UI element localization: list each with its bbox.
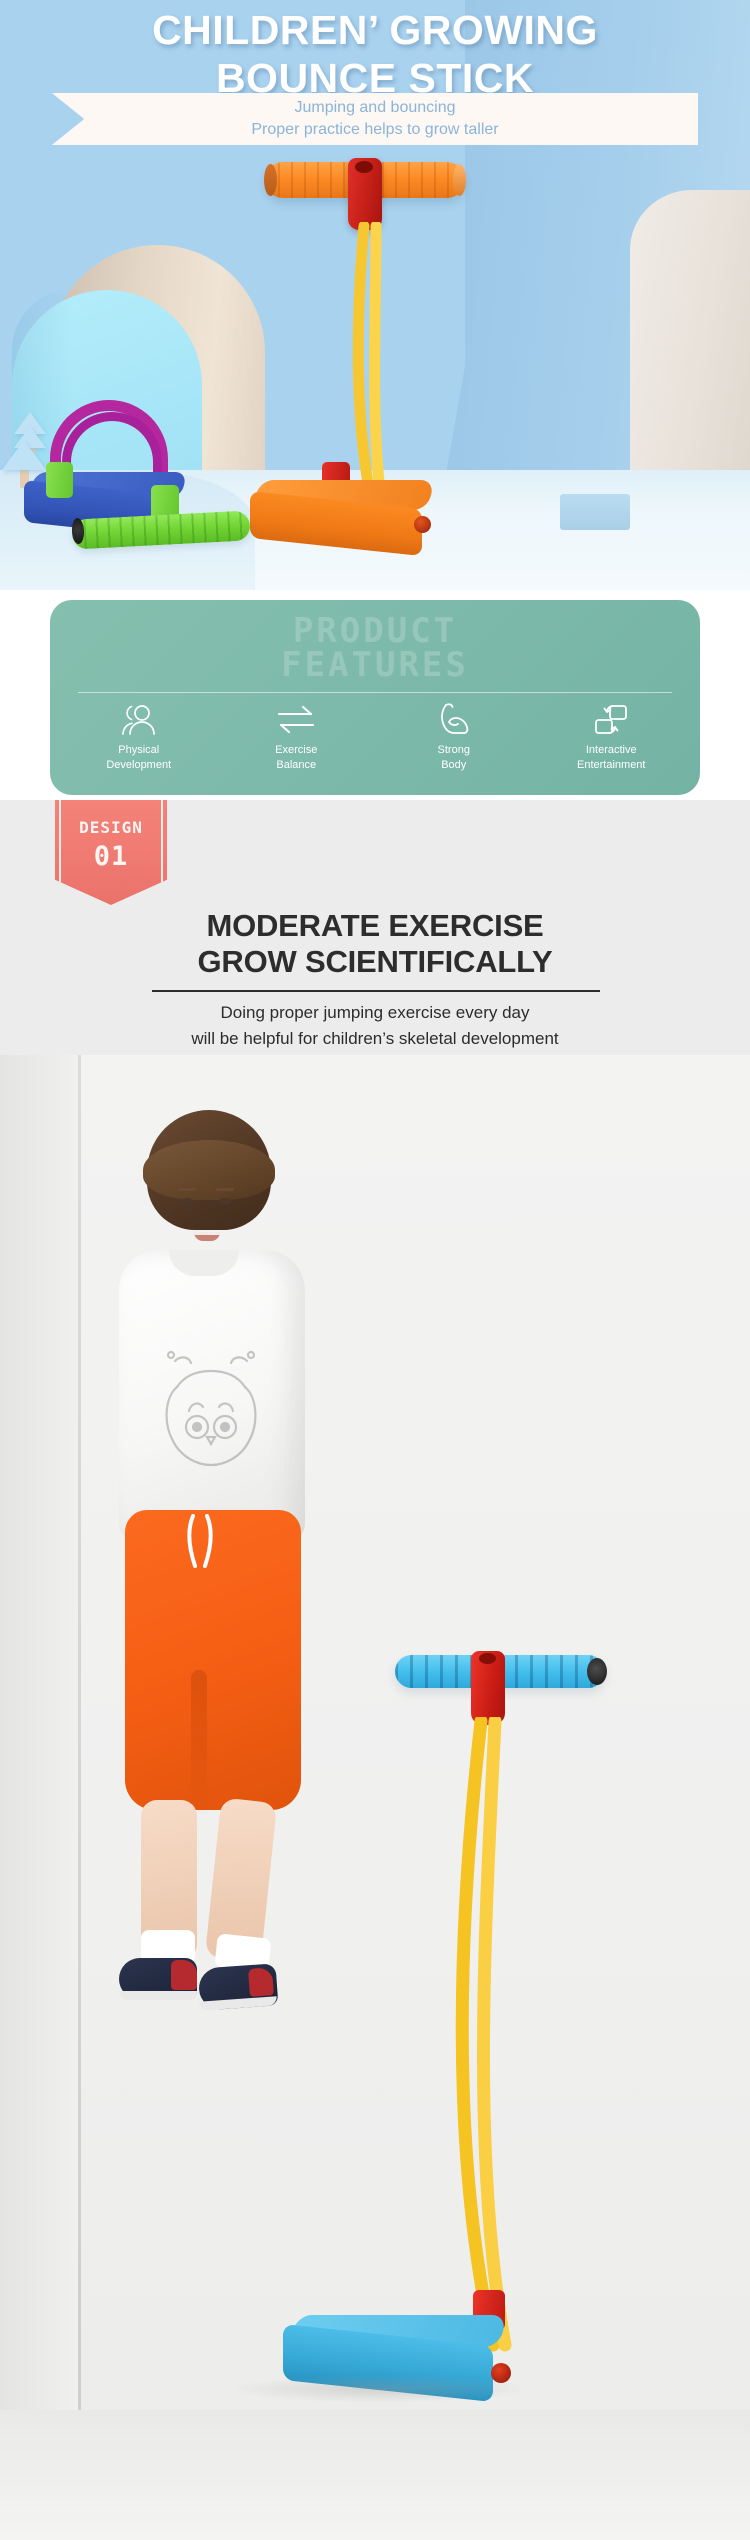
shoe-sole-left [119,1991,197,2000]
ribbon-line1: Jumping and bouncing [294,97,455,119]
design-section: DESIGN 01 MODERATE EXERCISE GROW SCIENTI… [0,800,750,1070]
pants-center-seam [191,1670,207,1815]
body-line2: will be helpful for children’s skeletal … [0,1026,750,1052]
ribbon-line2: Proper practice helps to grow taller [251,119,498,141]
headline-underline [152,990,600,992]
lifestyle-photo-section [0,1055,750,2540]
features-watermark-line1: PRODUCT [50,614,700,648]
hero-section: CHILDREN’ GROWING BOUNCE STICK Jumping a… [0,0,750,590]
child-hair-fringe [143,1140,275,1200]
handle-end-cap-right [453,164,466,196]
body-line1: Doing proper jumping exercise every day [0,1000,750,1026]
child-model [95,1110,365,2480]
product-ground-shadow [230,2375,530,2403]
design-badge-text: DESIGN 01 [55,800,167,872]
orange-foam-base [250,480,435,555]
child-eyebrow-left [178,1188,196,1191]
product-blue-bounce-stick-photo [395,1655,685,2455]
yellow-bungee-cords [350,222,480,522]
product-features-section: PRODUCT FEATURES Physical Development [0,590,750,800]
features-divider [78,692,672,693]
design-badge-number: 01 [55,841,167,872]
flexed-bicep-icon [375,700,533,738]
feature-item-physical-development: Physical Development [60,700,218,773]
page-title: CHILDREN’ GROWING BOUNCE STICK [0,6,750,103]
hero-step-block [560,494,630,530]
swap-boxes-refresh-icon [533,700,691,738]
red-collar-top [348,158,382,230]
design-badge-label: DESIGN [55,818,167,837]
child-mouth [194,1232,220,1241]
product-orange-bounce-stick [250,150,480,570]
features-watermark-line2: FEATURES [50,648,700,682]
hero-subtitle-ribbon: Jumping and bouncing Proper practice hel… [52,93,698,145]
pants-drawstring [183,1514,219,1572]
features-watermark: PRODUCT FEATURES [50,614,700,682]
photo-wall-left [0,1055,78,2540]
green-collar-base [46,462,73,498]
features-panel: PRODUCT FEATURES Physical Development [50,600,700,795]
handle-end-cap-left [264,164,277,196]
child-eyebrow-right [216,1188,234,1191]
child-eye-left [181,1198,193,1204]
feature-item-strong-body: Strong Body [375,700,533,773]
yellow-bungee-cords [415,1717,615,2357]
feature-item-interactive-entertainment: Interactive Entertainment [533,700,691,773]
blue-foam-base [275,2315,565,2425]
feature-label: Interactive Entertainment [533,743,691,773]
feature-label: Physical Development [60,743,218,773]
product-blue-green-bounce-stick [10,390,260,575]
base-squeaker-cap [414,516,431,533]
handle-end-cap [587,1658,607,1685]
two-people-icon [60,700,218,738]
design-headline: MODERATE EXERCISE GROW SCIENTIFICALLY [0,908,750,980]
child-eye-right [219,1198,231,1204]
features-list: Physical Development Exercise Balance [60,700,690,773]
headline-line1: MODERATE EXERCISE [0,908,750,944]
red-collar-top [471,1651,505,1725]
hero-title-line1: CHILDREN’ GROWING [0,6,750,54]
owl-graphic-print [155,1345,267,1475]
shoe-heel-accent-left [171,1960,197,1990]
headline-line2: GROW SCIENTIFICALLY [0,944,750,980]
double-arrow-exchange-icon [218,700,376,738]
feature-label: Strong Body [375,743,533,773]
photo-wall-edge [78,1055,81,2425]
product-listing-page: CHILDREN’ GROWING BOUNCE STICK Jumping a… [0,0,750,2540]
feature-label: Exercise Balance [218,743,376,773]
feature-item-exercise-balance: Exercise Balance [218,700,376,773]
